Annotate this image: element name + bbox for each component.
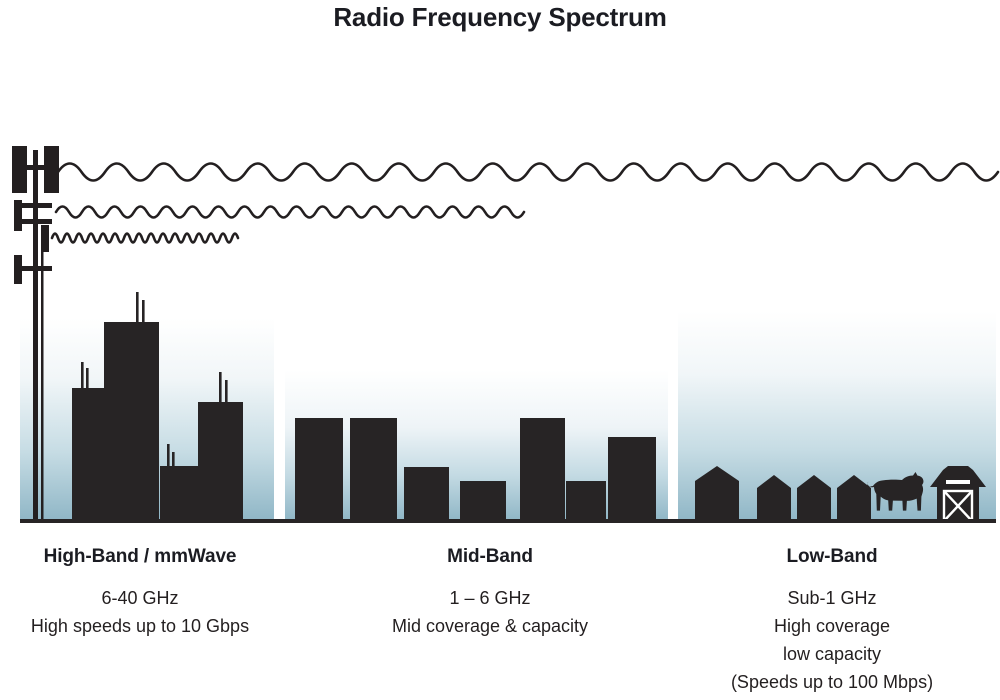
mid-band-wave [56,207,524,218]
tower-antenna-panel [41,225,49,252]
building [608,437,656,521]
band-line: (Speeds up to 100 Mbps) [682,668,982,696]
ground-baseline [20,519,996,523]
tower-mast-secondary [41,228,44,522]
skyline-spire [167,444,170,468]
tower-antenna-panel [14,255,22,284]
barn-hayloft-vent [946,480,970,484]
band-line: Sub-1 GHz [682,584,982,612]
radio-waves [52,164,998,243]
band-description-high-band: 6-40 GHz High speeds up to 10 Gbps [6,584,274,640]
building [104,322,159,521]
band-line: Mid coverage & capacity [344,612,636,640]
band-line: 6-40 GHz [6,584,274,612]
skyline-spire [142,300,145,324]
band-title-mid-band: Mid-Band [344,546,636,568]
band-line: 1 – 6 GHz [344,584,636,612]
building [404,467,449,521]
skyline-spire [172,452,175,468]
band-description-low-band: Sub-1 GHz High coverage low capacity (Sp… [682,584,982,696]
band-title-low-band: Low-Band [682,546,982,568]
infographic-root: Radio Frequency Spectrum [0,0,1000,700]
band-description-mid-band: 1 – 6 GHz Mid coverage & capacity [344,584,636,640]
building [198,402,243,521]
band-caption-mid-band: Mid-Band 1 – 6 GHz Mid coverage & capaci… [344,546,636,640]
building [460,481,506,521]
skyline-spire [86,368,89,390]
tower-antenna-panel [14,200,22,231]
building [350,418,397,521]
band-caption-low-band: Low-Band Sub-1 GHz High coverage low cap… [682,546,982,696]
band-line: High coverage [682,612,982,640]
band-line: High speeds up to 10 Gbps [6,612,274,640]
band-caption-high-band: High-Band / mmWave 6-40 GHz High speeds … [6,546,274,640]
building [295,418,343,521]
tower-antenna-panel [12,146,27,193]
band-line: low capacity [682,640,982,668]
tower-antenna-panel [44,146,59,193]
building [520,418,565,521]
skyline-spire [225,380,228,404]
spectrum-illustration [0,0,1000,545]
skyline-spire [136,292,139,324]
skyline-spire [81,362,84,390]
low-band-wave [58,164,998,181]
band-title-high-band: High-Band / mmWave [6,546,274,568]
building [160,466,203,521]
building [566,481,606,521]
mmwave-wave [52,234,238,243]
skyline-spire [219,372,222,404]
